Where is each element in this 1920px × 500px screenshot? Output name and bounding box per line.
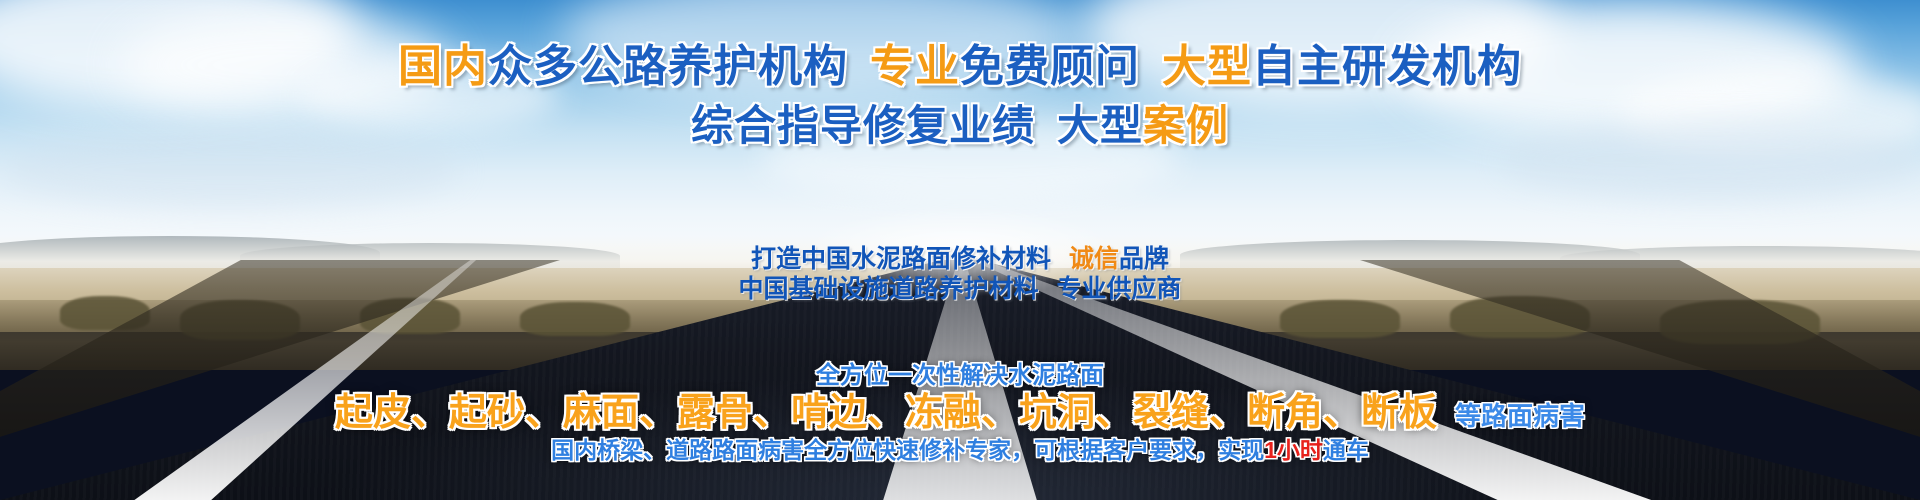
headline-line-1: 国内众多公路养护机构专业免费顾问大型自主研发机构	[0, 41, 1920, 93]
bottom-l3-part-3: 通车	[1323, 437, 1369, 463]
bottom-line-3: 国内桥梁、道路路面病害全方位快速修补专家，可根据客户要求，实现1小时通车	[0, 437, 1920, 464]
subtitle-l2-part-1: 中国基础设施道路养护材料	[738, 275, 1038, 303]
subtitle-l1-part-2: 诚信	[1069, 245, 1119, 273]
promotional-banner: 国内众多公路养护机构专业免费顾问大型自主研发机构 综合指导修复业绩大型案例 打造…	[0, 0, 1920, 500]
bottom-line-2: 起皮、起砂、麻面、露骨、啃边、冻融、坑洞、裂缝、断角、断板等路面病害	[0, 391, 1920, 438]
subtitle-line-2: 中国基础设施道路养护材料专业供应商	[0, 274, 1920, 304]
banner-text-content: 国内众多公路养护机构专业免费顾问大型自主研发机构 综合指导修复业绩大型案例 打造…	[0, 0, 1920, 500]
headline-l2-part-3: 案例	[1143, 102, 1229, 149]
defect-list: 起皮、起砂、麻面、露骨、啃边、冻融、坑洞、裂缝、断角、断板	[335, 392, 1437, 434]
defect-list-suffix: 等路面病害	[1455, 401, 1585, 431]
bottom-tagline: 全方位一次性解决水泥路面	[816, 362, 1104, 389]
bottom-l3-highlight: 1小时	[1264, 437, 1323, 463]
bottom-l3-part-1: 国内桥梁、道路路面病害全方位快速修补专家，可根据客户要求，实现	[551, 437, 1264, 463]
subtitle-l2-part-2: 专业供应商	[1057, 275, 1182, 303]
headline-l1-part-6: 自主研发机构	[1252, 42, 1522, 91]
headline-l1-part-1: 国内	[398, 42, 488, 91]
bottom-line-1: 全方位一次性解决水泥路面	[0, 362, 1920, 390]
headline-l1-part-2: 众多公路养护机构	[488, 42, 848, 91]
headline-line-2: 综合指导修复业绩大型案例	[0, 101, 1920, 151]
headline-l1-part-5: 大型	[1162, 42, 1252, 91]
subtitle-line-1: 打造中国水泥路面修补材料诚信品牌	[0, 244, 1920, 274]
headline-l1-part-4: 免费顾问	[960, 42, 1140, 91]
subtitle-l1-part-1: 打造中国水泥路面修补材料	[751, 245, 1051, 273]
headline-l2-part-1: 综合指导修复业绩	[691, 102, 1035, 149]
headline-l2-part-2: 大型	[1057, 102, 1143, 149]
headline-l1-part-3: 专业	[870, 42, 960, 91]
subtitle-l1-part-3: 品牌	[1119, 245, 1169, 273]
